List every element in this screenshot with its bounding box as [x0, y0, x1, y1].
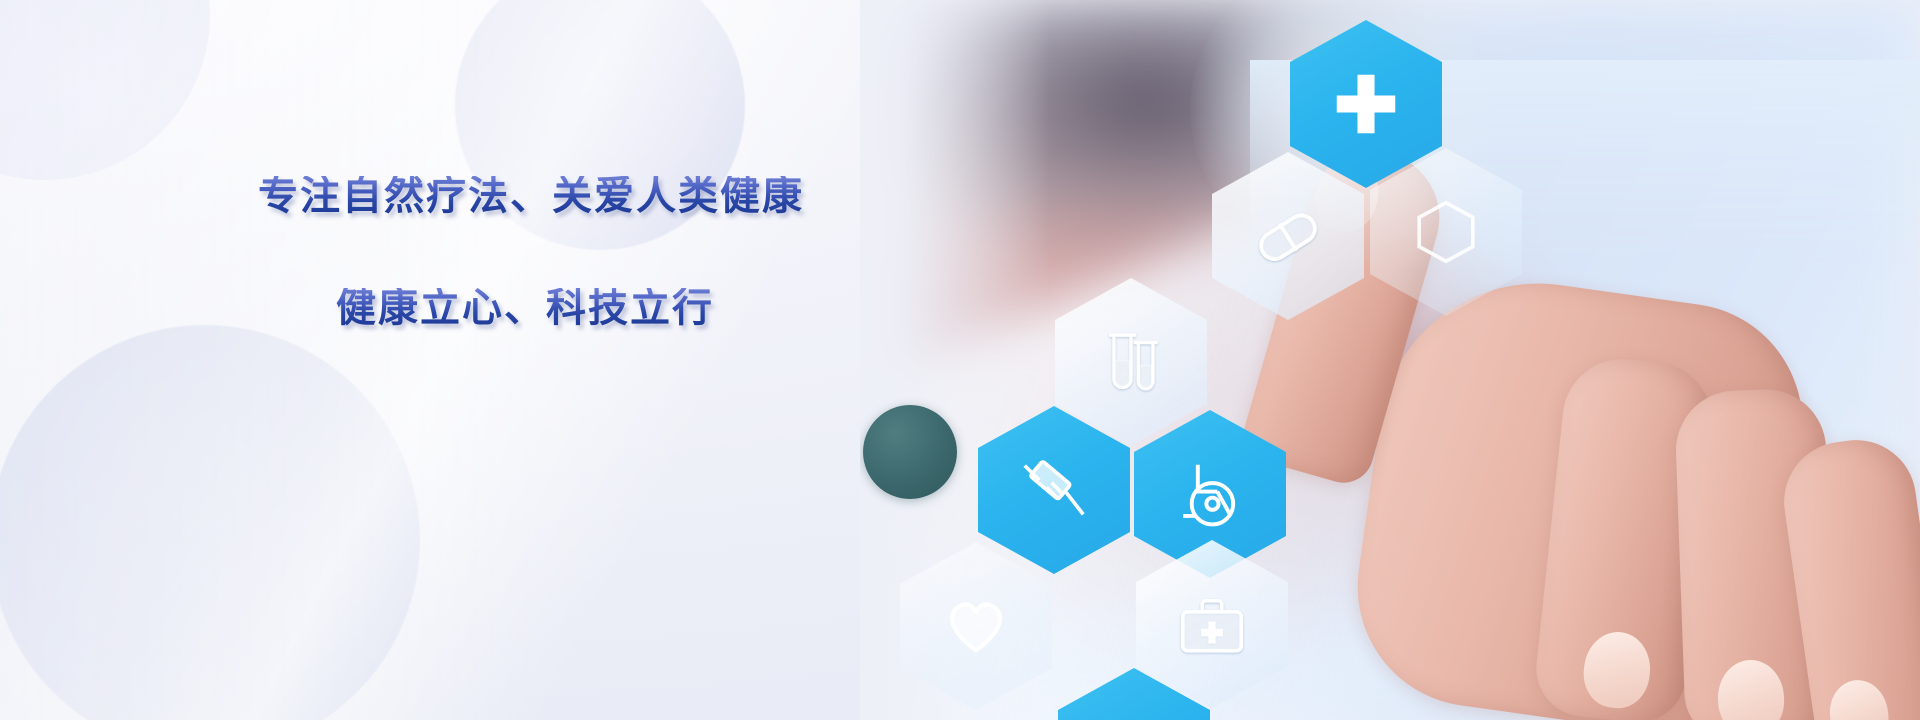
headline-line-2: 健康立心、科技立行: [336, 288, 898, 328]
pill-capsule-icon: [1249, 197, 1327, 275]
hexagon-medical-cross-icon[interactable]: [1290, 20, 1442, 188]
wheelchair-icon: [1171, 455, 1249, 533]
doctor-photo-composition: [860, 0, 1920, 720]
first-aid-kit-icon: [1173, 585, 1251, 663]
people-group-icon: [1095, 713, 1173, 720]
test-tubes-icon: [1092, 323, 1170, 401]
medical-cross-icon: [1327, 65, 1405, 143]
decorative-circle-bottom: [0, 325, 420, 720]
hexagon-heart-pulse-icon[interactable]: [900, 542, 1052, 710]
syringe-icon: [1015, 451, 1093, 529]
hexagon-shield-hex-icon[interactable]: [1370, 148, 1522, 316]
shield-hex-icon: [1407, 193, 1485, 271]
heart-pulse-icon: [937, 587, 1015, 665]
hexagon-icon-grid: [860, 0, 1920, 720]
headline-line-1: 专注自然疗法、关爱人类健康: [258, 176, 898, 216]
decorative-circle-topleft: [0, 0, 210, 180]
healthcare-hero-banner: 专注自然疗法、关爱人类健康 健康立心、科技立行: [0, 0, 1920, 720]
hexagon-pill-capsule-icon[interactable]: [1212, 152, 1364, 320]
headline-block: 专注自然疗法、关爱人类健康 健康立心、科技立行: [258, 176, 898, 328]
